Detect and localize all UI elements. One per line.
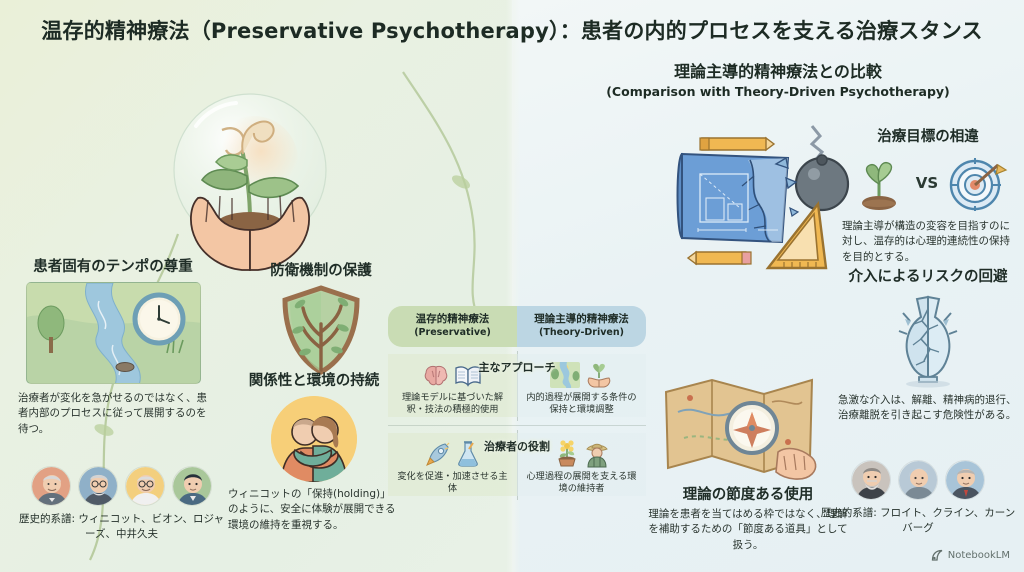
right-panel-title: 理論主導的精神療法との比較 (Comparison with Theory-Dr… (548, 58, 1008, 99)
card-goal-difference-body: 理論主導が構造の変容を目指すのに対し、温存的は心理的連続性の保持を目的とする。 (842, 219, 1014, 265)
card-intervention-risk: 介入によるリスクの回避 急激な介入は、解離、精神病的退行、治療離脱を引き起こす危… (838, 268, 1018, 424)
right-panel-title-en: (Comparison with Theory-Driven Psychothe… (548, 84, 1008, 99)
comparison-row-approach-label: 主なアプローチ (479, 359, 556, 375)
winnicott-portrait-icon (31, 466, 71, 506)
card-relationship-continuity-heading: 関係性と環境の持続 (228, 372, 400, 390)
freud-portrait-icon (851, 460, 891, 500)
right-panel-title-jp: 理論主導的精神療法との比較 (548, 58, 1008, 82)
vs-label: VS (916, 174, 938, 192)
vine-decoration-right (395, 70, 515, 320)
river-and-clock-illustration-icon (26, 282, 201, 384)
lineage-right-caption: 歴史的系譜: フロイト、クライン、カーンバーグ (818, 506, 1018, 535)
card-patient-tempo-heading: 患者固有のテンポの尊重 (18, 258, 208, 276)
comparison-cell-approach-right-text: 内的過程が展開する条件の保持と環境調整 (522, 392, 641, 417)
infographic-page: 温存的精神療法（Preservative Psychotherapy）：患者の内… (0, 0, 1024, 572)
notebooklm-watermark: NotebookLM (931, 549, 1010, 562)
card-patient-tempo: 患者固有のテンポの尊重 治療者が変化を急がせるのではなく、患者内部のプロセスに従… (18, 258, 208, 437)
card-patient-tempo-body: 治療者が変化を急がせるのではなく、患者内部のプロセスに従って展開するのを待つ。 (18, 391, 208, 437)
card-intervention-risk-heading: 介入によるリスクの回避 (838, 268, 1018, 286)
lineage-left-portraits (14, 466, 229, 506)
rogers-portrait-icon (125, 466, 165, 506)
klein-portrait-icon (898, 460, 938, 500)
card-goal-difference: 治療目標の相違 VS 理論主導が構造の変容を目指すのに対し、温存的は心理的連続性… (842, 128, 1014, 265)
kernberg-portrait-icon (945, 460, 985, 500)
flower-pot-icon (554, 439, 580, 467)
comparison-header-row: 温存的精神療法 (Preservative) 理論主導的精神療法 (Theory… (388, 306, 646, 347)
card-intervention-risk-body: 急激な介入は、解離、精神病的退行、治療離脱を引き起こす危険性がある。 (838, 393, 1018, 423)
lineage-left: 歴史的系譜: ウィニコット、ビオン、ロジャーズ、中井久夫 (14, 466, 229, 541)
hands-holding-seedling-in-bubble-icon (150, 88, 350, 273)
card-relationship-continuity-body: ウィニコットの「保持(holding)」のように、安全に体験が展開できる環境の維… (228, 487, 400, 533)
sprout-icon (852, 154, 906, 212)
two-people-embracing-icon (271, 396, 357, 482)
comparison-row-role-label: 治療者の役割 (484, 438, 550, 454)
cracked-vase-icon (891, 291, 965, 387)
brain-icon (423, 364, 449, 388)
rocket-icon (425, 441, 451, 467)
hands-with-sprout-icon (585, 362, 613, 388)
goal-comparison-row: VS (842, 152, 1014, 214)
card-defense-protection: 防衛機制の保護 (246, 262, 396, 378)
target-with-arrow-icon (948, 155, 1004, 211)
nakai-portrait-icon (172, 466, 212, 506)
comparison-table: 温存的精神療法 (Preservative) 理論主導的精神療法 (Theory… (388, 306, 646, 504)
lineage-right-portraits (818, 460, 1018, 500)
comparison-header-theory-driven: 理論主導的精神療法 (Theory-Driven) (517, 306, 646, 347)
comparison-row-role: 治療者の役割 変化を促進・加速させる主 (388, 426, 646, 504)
farmer-icon (585, 439, 609, 467)
map-and-compass-illustration-icon (660, 368, 820, 490)
comparison-header-preservative: 温存的精神療法 (Preservative) (388, 306, 517, 347)
page-title-text: 温存的精神療法（Preservative Psychotherapy）：患者の内… (41, 15, 982, 45)
comparison-cell-role-right-text: 心理過程の展開を支える環境の維持者 (522, 471, 641, 496)
blueprint-wrecking-ball-illustration-icon (662, 112, 848, 280)
card-goal-difference-heading: 治療目標の相違 (842, 128, 1014, 146)
shield-with-tree-icon (273, 284, 369, 376)
comparison-row-approach: 主なアプローチ 理論モデルに基づいた解釈・技法の積極的使用 (388, 347, 646, 426)
card-defense-protection-heading: 防衛機制の保護 (246, 262, 396, 280)
card-relationship-continuity: 関係性と環境の持続 ウィニコットの「保持(holding)」のように、安全に体験… (228, 372, 400, 533)
notebooklm-watermark-label: NotebookLM (948, 550, 1010, 561)
bion-portrait-icon (78, 466, 118, 506)
lineage-left-caption: 歴史的系譜: ウィニコット、ビオン、ロジャーズ、中井久夫 (14, 512, 229, 541)
flask-icon (456, 441, 480, 467)
comparison-cell-role-left-text: 変化を促進・加速させる主体 (393, 471, 512, 496)
comparison-cell-approach-left-text: 理論モデルに基づいた解釈・技法の積極的使用 (393, 392, 512, 417)
lineage-right: 歴史的系譜: フロイト、クライン、カーンバーグ (818, 460, 1018, 535)
notebooklm-logo-icon (931, 549, 944, 562)
page-title: 温存的精神療法（Preservative Psychotherapy）：患者の内… (0, 8, 1024, 52)
